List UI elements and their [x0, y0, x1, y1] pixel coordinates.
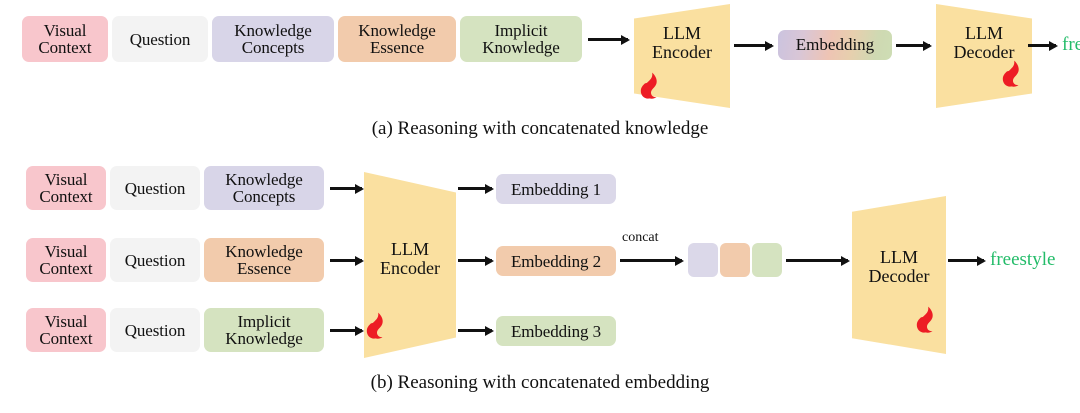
- concat-label-b: concat: [622, 230, 659, 246]
- flame-icon-encoder-a: [638, 72, 660, 100]
- arrow-encoder-to-embedding-a: [734, 44, 772, 47]
- tag-visual-context-b-row1: Visual Context: [26, 166, 106, 210]
- concat-chip-1: [688, 243, 718, 277]
- arrow-row2-to-encoder-b: [330, 259, 362, 262]
- concat-chip-3: [752, 243, 782, 277]
- tag-knowledge-concepts-a: Knowledge Concepts: [212, 16, 334, 62]
- llm-encoder-a-label: LLM Encoder: [634, 24, 730, 62]
- embedding-block-a-label: Embedding: [796, 35, 874, 55]
- output-freestyle-b: freestyle: [990, 249, 1055, 271]
- flame-icon-decoder-a: [1000, 60, 1022, 88]
- tag-knowledge-concepts-b-row1: Knowledge Concepts: [204, 166, 324, 210]
- llm-encoder-b-label: LLM Encoder: [364, 240, 456, 278]
- arrow-decoder-to-output-b: [948, 259, 984, 262]
- embedding-2-b: Embedding 2: [496, 246, 616, 276]
- tag-question-b-row2: Question: [110, 238, 200, 282]
- llm-decoder-a: LLM Decoder: [936, 4, 1032, 108]
- flame-icon-decoder-b: [914, 306, 936, 334]
- arrow-decoder-to-output-a: [1028, 44, 1056, 47]
- arrow-encoder-to-embedding1-b: [458, 187, 492, 190]
- llm-decoder-a-label: LLM Decoder: [936, 24, 1032, 62]
- tag-visual-context-a: Visual Context: [22, 16, 108, 62]
- llm-decoder-b-label: LLM Decoder: [852, 248, 946, 286]
- caption-panel-b: (b) Reasoning with concatenated embeddin…: [0, 372, 1080, 394]
- tag-visual-context-b-row3: Visual Context: [26, 308, 106, 352]
- figure-canvas: Visual Context Question Knowledge Concep…: [0, 0, 1080, 413]
- tag-implicit-knowledge-a: Implicit Knowledge: [460, 16, 582, 62]
- embedding-1-b: Embedding 1: [496, 174, 616, 204]
- tag-question-b-row1: Question: [110, 166, 200, 210]
- arrow-embedding2-to-concat-b: [620, 259, 682, 262]
- tag-visual-context-b-row2: Visual Context: [26, 238, 106, 282]
- arrow-embedding-to-decoder-a: [896, 44, 930, 47]
- tag-implicit-knowledge-b-row3: Implicit Knowledge: [204, 308, 324, 352]
- arrow-inputs-to-encoder-a: [588, 38, 628, 41]
- embedding-3-b: Embedding 3: [496, 316, 616, 346]
- arrow-encoder-to-embedding2-b: [458, 259, 492, 262]
- output-freestyle-a: freestyle: [1062, 34, 1080, 56]
- concat-chip-2: [720, 243, 750, 277]
- arrow-row3-to-encoder-b: [330, 329, 362, 332]
- tag-question-b-row3: Question: [110, 308, 200, 352]
- tag-question-a: Question: [112, 16, 208, 62]
- embedding-block-a: Embedding: [778, 30, 892, 60]
- tag-knowledge-essence-a: Knowledge Essence: [338, 16, 456, 62]
- flame-icon-encoder-b: [364, 312, 386, 340]
- tag-knowledge-essence-b-row2: Knowledge Essence: [204, 238, 324, 282]
- arrow-concat-to-decoder-b: [786, 259, 848, 262]
- arrow-encoder-to-embedding3-b: [458, 329, 492, 332]
- arrow-row1-to-encoder-b: [330, 187, 362, 190]
- caption-panel-a: (a) Reasoning with concatenated knowledg…: [0, 118, 1080, 140]
